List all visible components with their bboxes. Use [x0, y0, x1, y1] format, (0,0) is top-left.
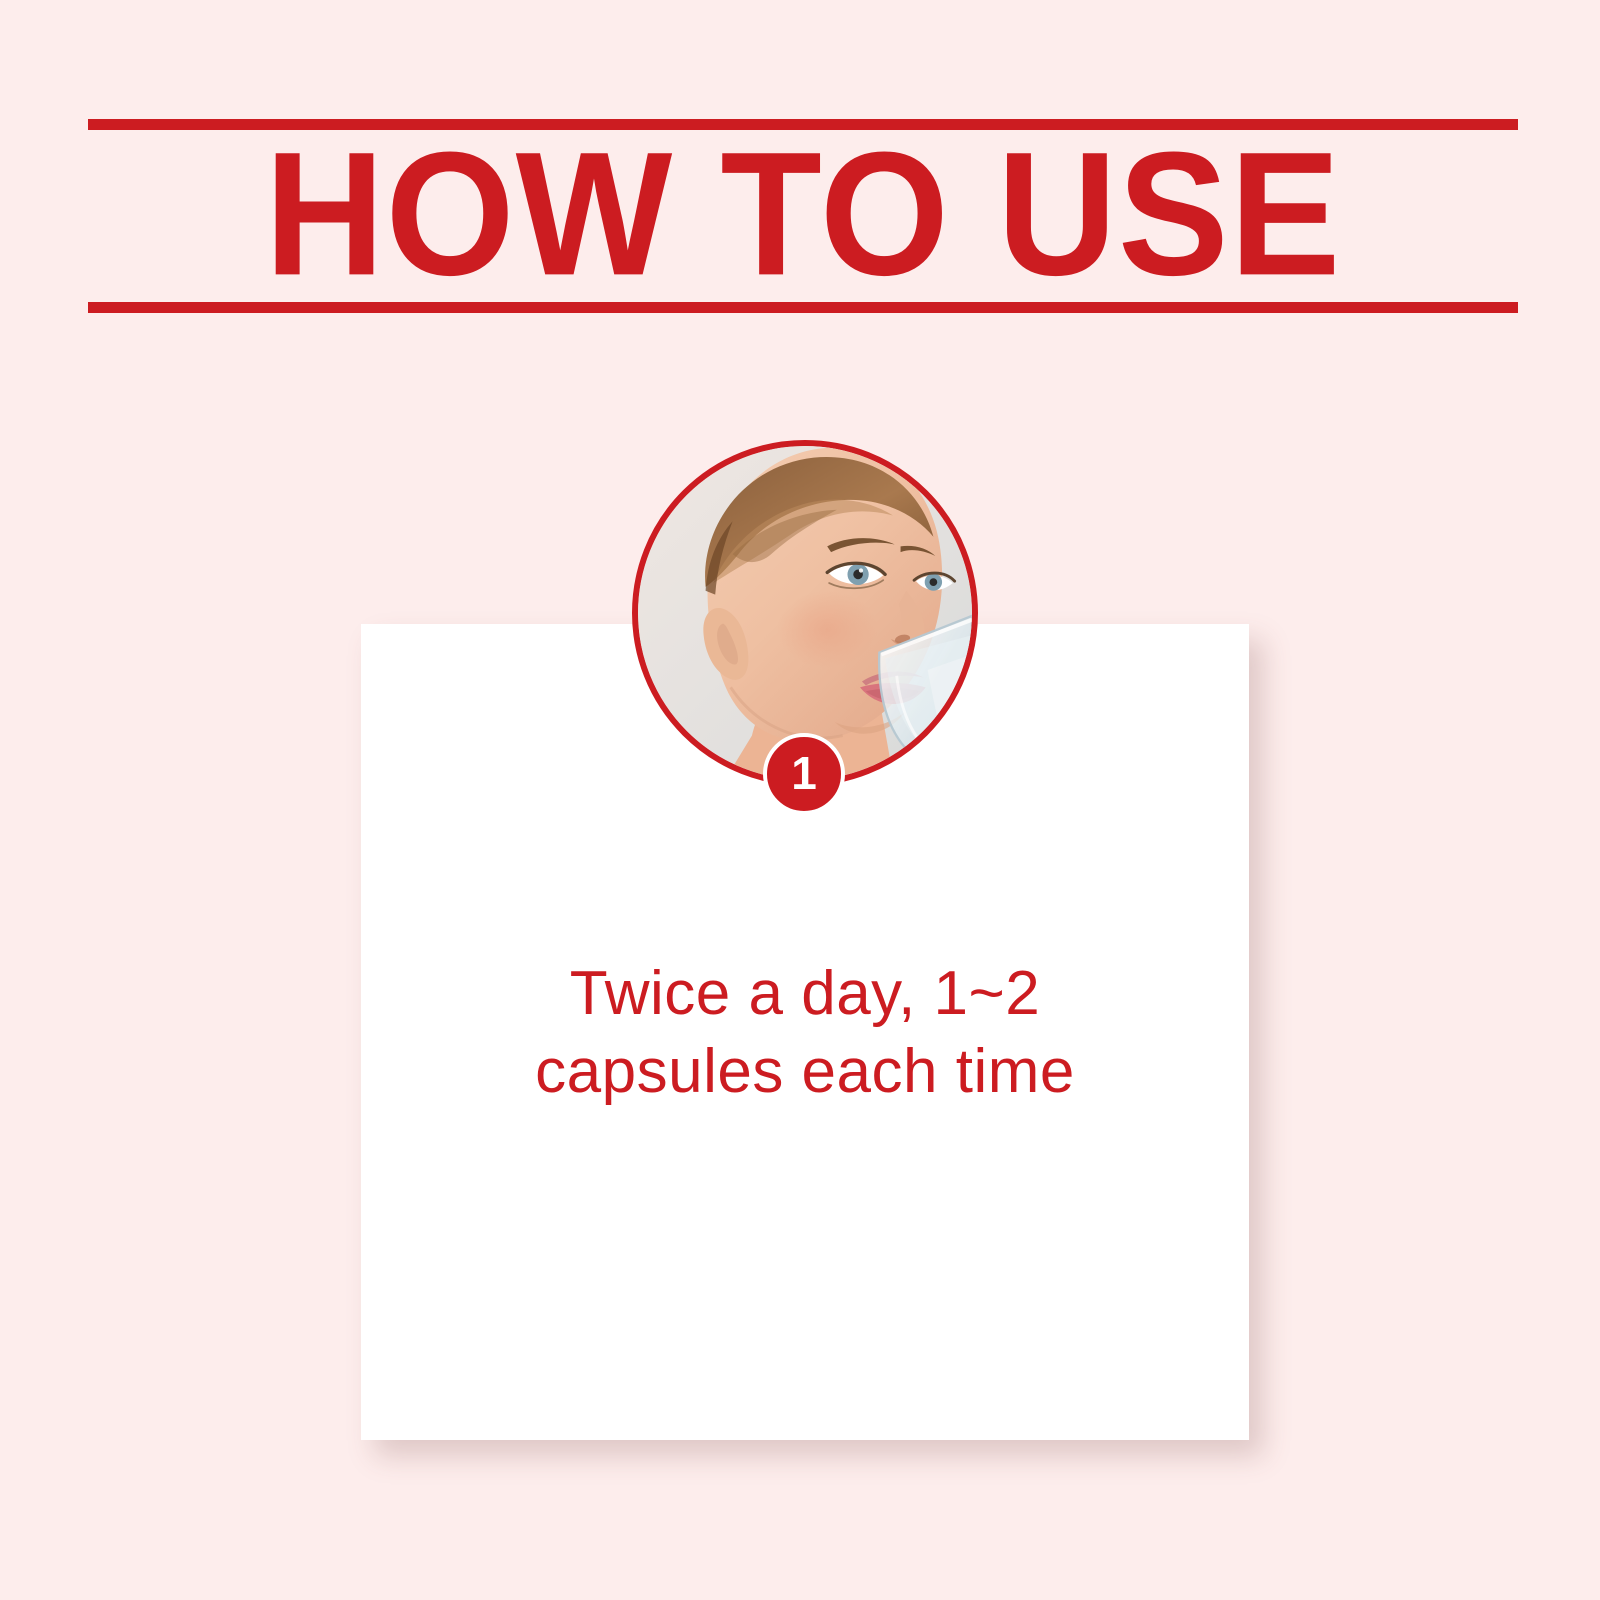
photo-clip — [638, 446, 972, 780]
header-rule-bottom — [88, 302, 1518, 313]
photo-illustration — [638, 446, 972, 780]
step-instruction-line-2: capsules each time — [361, 1033, 1249, 1111]
step-instruction: Twice a day, 1~2 capsules each time — [361, 955, 1249, 1110]
step-number-label: 1 — [791, 750, 817, 799]
step-instruction-line-1: Twice a day, 1~2 — [361, 955, 1249, 1033]
header-block: HOW TO USE — [88, 119, 1518, 313]
page-title: HOW TO USE — [88, 122, 1518, 309]
how-to-use-panel: HOW TO USE Twice a day, 1~2 capsules eac… — [0, 0, 1600, 1600]
step-number-badge: 1 — [763, 733, 845, 815]
